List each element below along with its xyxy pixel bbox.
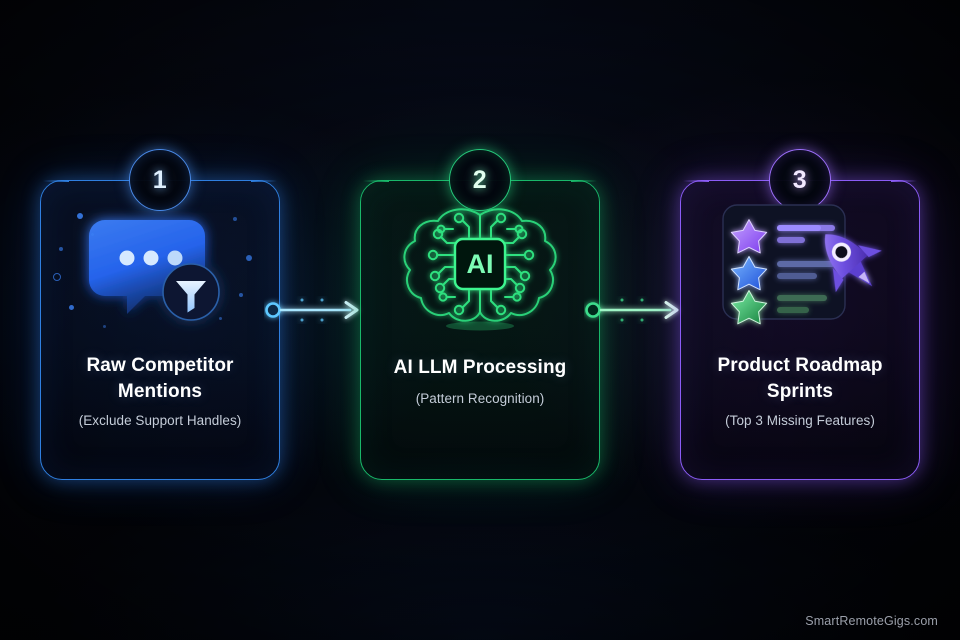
step-title-line2-1: Mentions bbox=[86, 379, 233, 405]
badge-tick-left-2 bbox=[363, 180, 389, 182]
step-title-2: AI LLM Processing bbox=[384, 355, 577, 381]
badge-tick-left-1 bbox=[43, 180, 69, 182]
badge-tick-left-3 bbox=[683, 180, 709, 182]
flow-diagram: 1 bbox=[0, 0, 960, 640]
step-title-line2-3: Sprints bbox=[717, 379, 882, 405]
connector-step2-to-step3 bbox=[584, 296, 688, 324]
step-subtitle-3: (Top 3 Missing Features) bbox=[725, 413, 875, 428]
step-title-line1-1: Raw Competitor bbox=[86, 353, 233, 379]
flow-step-card-1[interactable]: 1 bbox=[40, 180, 280, 480]
watermark-text: SmartRemoteGigs.com bbox=[805, 614, 938, 628]
roadmap-rocket-icon bbox=[681, 185, 919, 353]
step-title-line1-3: Product Roadmap bbox=[717, 353, 882, 379]
step-title-line1-2: AI LLM Processing bbox=[394, 355, 567, 381]
step-title-1: Raw Competitor Mentions bbox=[76, 353, 243, 404]
step-subtitle-1: (Exclude Support Handles) bbox=[79, 413, 242, 428]
badge-tick-right-1 bbox=[251, 180, 277, 182]
flow-step-card-3[interactable]: 3 bbox=[680, 180, 920, 480]
ai-brain-chip-icon: AI bbox=[361, 185, 599, 353]
ai-chip-label: AI bbox=[467, 249, 494, 279]
step-title-3: Product Roadmap Sprints bbox=[707, 353, 892, 404]
step-subtitle-2: (Pattern Recognition) bbox=[416, 391, 545, 406]
badge-tick-right-3 bbox=[891, 180, 917, 182]
flow-step-card-2[interactable]: 2 bbox=[360, 180, 600, 480]
connector-step1-to-step2 bbox=[264, 296, 368, 324]
badge-tick-right-2 bbox=[571, 180, 597, 182]
chat-bubble-filter-icon bbox=[41, 185, 279, 353]
